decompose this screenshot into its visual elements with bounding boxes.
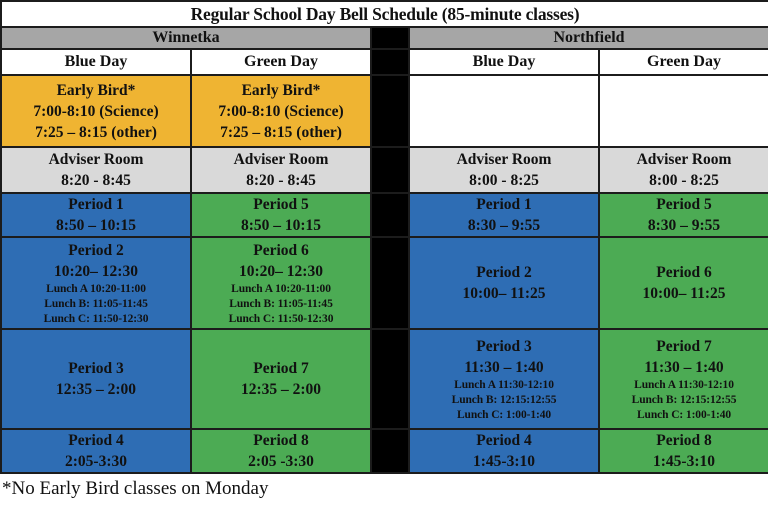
cell-period1-northfield-green: Period 5 8:30 – 9:55 [599, 193, 768, 237]
cell-line-2: 10:20– 12:30 [192, 261, 370, 282]
cell-line-1: Period 8 [600, 430, 768, 451]
cell-line-3: 7:25 – 8:15 (other) [194, 122, 368, 143]
cell-line-3: 7:25 – 8:15 (other) [4, 122, 188, 143]
cell-early-bird-winnetka-green: Early Bird* 7:00-8:10 (Science) 7:25 – 8… [191, 75, 371, 147]
cell-lunch-a: Lunch A 10:20-11:00 [2, 282, 190, 297]
cell-line-1: Period 6 [600, 262, 768, 283]
cell-period2-winnetka-green: Period 6 10:20– 12:30 Lunch A 10:20-11:0… [191, 237, 371, 329]
cell-adviser-winnetka-green: Adviser Room 8:20 - 8:45 [191, 147, 371, 193]
cell-line-2: 8:20 - 8:45 [192, 170, 370, 191]
cell-adviser-northfield-green: Adviser Room 8:00 - 8:25 [599, 147, 768, 193]
cell-lunch-c: Lunch C: 11:50-12:30 [192, 312, 370, 327]
day-header-winnetka-blue: Blue Day [1, 49, 191, 75]
cell-line-1: Period 6 [192, 240, 370, 261]
cell-adviser-winnetka-blue: Adviser Room 8:20 - 8:45 [1, 147, 191, 193]
day-header-winnetka-green: Green Day [191, 49, 371, 75]
cell-lunch-a: Lunch A 11:30-12:10 [600, 378, 768, 393]
cell-lunch-b: Lunch B: 12:15:12:55 [410, 393, 598, 408]
cell-line-2: 7:00-8:10 (Science) [4, 101, 188, 122]
campus-divider [371, 429, 409, 473]
cell-early-bird-winnetka-blue: Early Bird* 7:00-8:10 (Science) 7:25 – 8… [1, 75, 191, 147]
cell-line-2: 12:35 – 2:00 [192, 379, 370, 400]
cell-line-2: 1:45-3:10 [410, 451, 598, 472]
cell-line-2: 8:50 – 10:15 [2, 215, 190, 236]
cell-line-1: Adviser Room [2, 149, 190, 170]
cell-line-1: Period 7 [600, 336, 768, 357]
schedule-title: Regular School Day Bell Schedule (85-min… [1, 1, 768, 27]
cell-line-2: 11:30 – 1:40 [410, 357, 598, 378]
cell-period4-northfield-blue: Period 4 1:45-3:10 [409, 429, 599, 473]
day-header-northfield-green: Green Day [599, 49, 768, 75]
campus-divider [371, 237, 409, 329]
cell-lunch-c: Lunch C: 11:50-12:30 [2, 312, 190, 327]
cell-line-1: Period 4 [410, 430, 598, 451]
campus-header-northfield: Northfield [409, 27, 768, 49]
cell-period2-northfield-green: Period 6 10:00– 11:25 [599, 237, 768, 329]
cell-line-2: 10:00– 11:25 [600, 283, 768, 304]
table-title-row: Regular School Day Bell Schedule (85-min… [1, 1, 768, 27]
bell-schedule-page: Regular School Day Bell Schedule (85-min… [0, 0, 768, 522]
campus-divider [371, 193, 409, 237]
cell-line-1: Adviser Room [410, 149, 598, 170]
footnote-text: *No Early Bird classes on Monday [0, 474, 768, 501]
row-early-bird: Early Bird* 7:00-8:10 (Science) 7:25 – 8… [1, 75, 768, 147]
row-period-1: Period 1 8:50 – 10:15 Period 5 8:50 – 10… [1, 193, 768, 237]
cell-period4-northfield-green: Period 8 1:45-3:10 [599, 429, 768, 473]
cell-adviser-northfield-blue: Adviser Room 8:00 - 8:25 [409, 147, 599, 193]
cell-line-2: 8:30 – 9:55 [410, 215, 598, 236]
cell-line-1: Adviser Room [600, 149, 768, 170]
cell-period1-northfield-blue: Period 1 8:30 – 9:55 [409, 193, 599, 237]
campus-divider [371, 75, 409, 147]
cell-line-1: Period 7 [192, 358, 370, 379]
day-header-northfield-blue: Blue Day [409, 49, 599, 75]
cell-line-1: Period 2 [2, 240, 190, 261]
cell-line-1: Period 5 [600, 194, 768, 215]
cell-line-1: Period 4 [2, 430, 190, 451]
cell-lunch-c: Lunch C: 1:00-1:40 [600, 408, 768, 423]
cell-lunch-a: Lunch A 11:30-12:10 [410, 378, 598, 393]
cell-lunch-b: Lunch B: 11:05-11:45 [192, 297, 370, 312]
row-period-2: Period 2 10:20– 12:30 Lunch A 10:20-11:0… [1, 237, 768, 329]
campus-header-winnetka: Winnetka [1, 27, 371, 49]
cell-early-bird-northfield-green [599, 75, 768, 147]
cell-line-1: Period 8 [192, 430, 370, 451]
cell-period3-winnetka-green: Period 7 12:35 – 2:00 [191, 329, 371, 429]
cell-line-2: 2:05 -3:30 [192, 451, 370, 472]
cell-line-2: 2:05-3:30 [2, 451, 190, 472]
cell-line-1: Early Bird* [4, 80, 188, 101]
cell-lunch-c: Lunch C: 1:00-1:40 [410, 408, 598, 423]
cell-period1-winnetka-green: Period 5 8:50 – 10:15 [191, 193, 371, 237]
row-period-3: Period 3 12:35 – 2:00 Period 7 12:35 – 2… [1, 329, 768, 429]
cell-line-2: 10:20– 12:30 [2, 261, 190, 282]
cell-period4-winnetka-green: Period 8 2:05 -3:30 [191, 429, 371, 473]
cell-lunch-b: Lunch B: 11:05-11:45 [2, 297, 190, 312]
cell-line-1: Period 5 [192, 194, 370, 215]
cell-period1-winnetka-blue: Period 1 8:50 – 10:15 [1, 193, 191, 237]
row-period-4: Period 4 2:05-3:30 Period 8 2:05 -3:30 P… [1, 429, 768, 473]
cell-line-1: Adviser Room [192, 149, 370, 170]
cell-period3-northfield-blue: Period 3 11:30 – 1:40 Lunch A 11:30-12:1… [409, 329, 599, 429]
cell-line-1: Period 1 [410, 194, 598, 215]
day-header-row: Blue Day Green Day Blue Day Green Day [1, 49, 768, 75]
cell-period4-winnetka-blue: Period 4 2:05-3:30 [1, 429, 191, 473]
cell-line-2: 8:20 - 8:45 [2, 170, 190, 191]
cell-line-2: 1:45-3:10 [600, 451, 768, 472]
cell-line-1: Early Bird* [194, 80, 368, 101]
campus-header-row: Winnetka Northfield [1, 27, 768, 49]
cell-early-bird-northfield-blue [409, 75, 599, 147]
cell-line-2: 7:00-8:10 (Science) [194, 101, 368, 122]
cell-line-2: 12:35 – 2:00 [2, 379, 190, 400]
cell-line-2: 10:00– 11:25 [410, 283, 598, 304]
cell-lunch-a: Lunch A 10:20-11:00 [192, 282, 370, 297]
campus-divider [371, 49, 409, 75]
cell-period3-winnetka-blue: Period 3 12:35 – 2:00 [1, 329, 191, 429]
cell-line-2: 8:50 – 10:15 [192, 215, 370, 236]
cell-period2-winnetka-blue: Period 2 10:20– 12:30 Lunch A 10:20-11:0… [1, 237, 191, 329]
cell-line-2: 8:00 - 8:25 [410, 170, 598, 191]
campus-divider [371, 27, 409, 49]
campus-divider [371, 329, 409, 429]
cell-period2-northfield-blue: Period 2 10:00– 11:25 [409, 237, 599, 329]
cell-period3-northfield-green: Period 7 11:30 – 1:40 Lunch A 11:30-12:1… [599, 329, 768, 429]
campus-divider [371, 147, 409, 193]
cell-line-1: Period 2 [410, 262, 598, 283]
cell-line-2: 8:30 – 9:55 [600, 215, 768, 236]
cell-lunch-b: Lunch B: 12:15:12:55 [600, 393, 768, 408]
row-adviser-room: Adviser Room 8:20 - 8:45 Adviser Room 8:… [1, 147, 768, 193]
cell-line-1: Period 1 [2, 194, 190, 215]
cell-line-1: Period 3 [410, 336, 598, 357]
bell-schedule-table: Regular School Day Bell Schedule (85-min… [0, 0, 768, 474]
cell-line-1: Period 3 [2, 358, 190, 379]
cell-line-2: 8:00 - 8:25 [600, 170, 768, 191]
cell-line-2: 11:30 – 1:40 [600, 357, 768, 378]
